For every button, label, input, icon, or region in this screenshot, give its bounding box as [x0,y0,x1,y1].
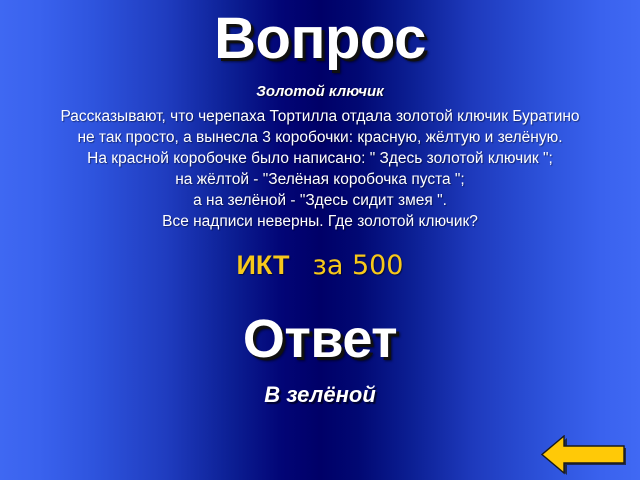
question-body: Рассказывают, что черепаха Тортилла отда… [0,106,640,232]
arrow-left-shape[interactable] [542,436,624,473]
question-body-line: Рассказывают, что черепаха Тортилла отда… [0,106,640,127]
question-heading: Вопрос [0,8,640,71]
question-body-line: на жёлтой - "Зелёная коробочка пуста "; [0,169,640,190]
question-body-line: а на зелёной - "Здесь сидит змея ". [0,190,640,211]
question-body-line: На красной коробочке было написано: " Зд… [0,148,640,169]
question-body-line: не так просто, а вынесла 3 коробочки: кр… [0,127,640,148]
category-value-row: ИКТ за 500 [0,252,640,279]
question-subtitle: Золотой ключик [0,83,640,100]
question-body-line: Все надписи неверны. Где золотой ключик? [0,211,640,232]
back-arrow-button[interactable] [541,435,629,475]
arrow-left-icon[interactable] [541,435,629,475]
answer-heading: Ответ [0,310,640,368]
quiz-slide: Вопрос Золотой ключик Рассказывают, что … [0,0,640,480]
point-value-label: за 500 [312,250,403,281]
category-label: ИКТ [237,250,290,280]
answer-text: В зелёной [0,382,640,408]
